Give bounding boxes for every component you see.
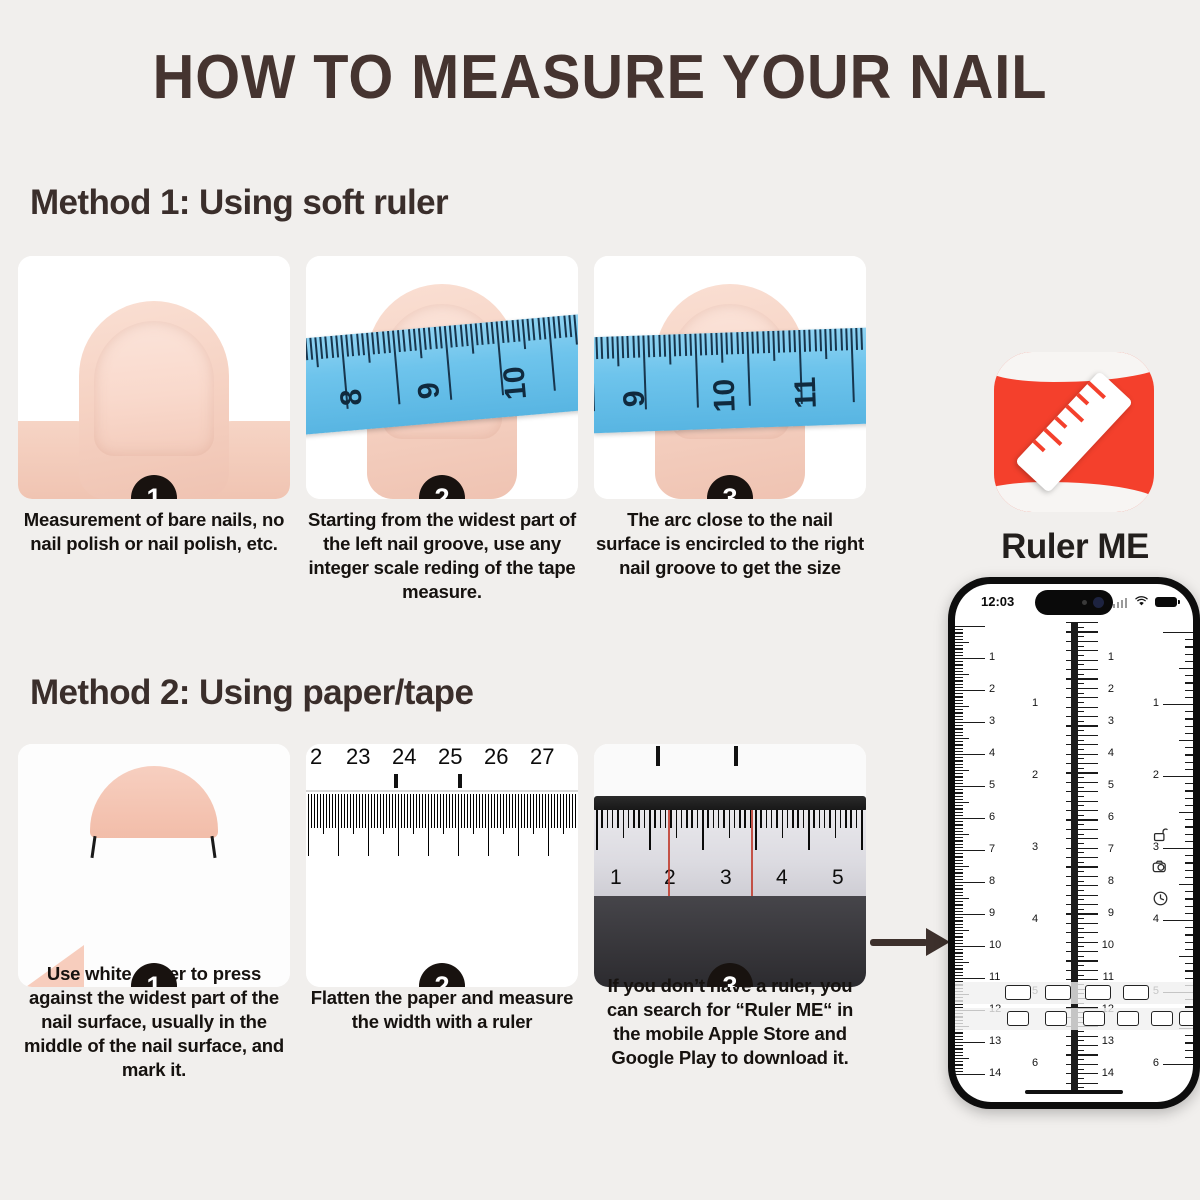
camera-icon[interactable] [1152,858,1169,875]
ruler-number: 24 [392,744,416,770]
ruler-scale-left: 1234567891011121314 [955,622,1017,1102]
pencil-mark-right [210,836,216,858]
ruler-number: 5 [832,866,844,890]
blue-tape-measure: 8 9 10 [306,313,578,436]
tape-number: 11 [789,376,824,409]
step-card-m1-2: 8 9 10 2 [306,256,578,499]
step-card-m2-3: 1 2 3 4 5 3 [594,744,866,987]
tape-number: 9 [618,390,653,408]
poster-root: HOW TO MEASURE YOUR NAIL Method 1: Using… [0,0,1200,1200]
pencil-mark-left [394,774,398,788]
ruler-number: 3 [720,866,732,890]
nail-size-chip[interactable] [1045,985,1071,1000]
ruler-me-app-screen[interactable]: 12:03 1234567891011121314 12345678910111… [955,584,1193,1102]
tape-number: 9 [412,381,447,401]
nail-size-chip[interactable] [1151,1011,1173,1026]
sensor-dot [1082,600,1087,605]
cellular-signal-icon [1113,598,1127,608]
step-card-m2-1: 1 [18,744,290,987]
ruler-number: 26 [484,744,508,770]
bare-fingernail-photo [18,256,290,499]
step-card-m2-2: 2 23 24 25 26 27 2 [306,744,578,987]
front-camera-lens [1093,597,1104,608]
nail-size-chip[interactable] [1007,1011,1029,1026]
pencil-mark-right [734,746,738,766]
step-caption: If you don’t have a ruler, you can searc… [594,974,866,1070]
app-name-label: Ruler ME [930,527,1200,567]
ruler-scale-center: 1234567891011121314123456 [1030,622,1118,1102]
nail-size-chip[interactable] [1045,1011,1067,1026]
ruler-face: 1 2 3 4 5 [594,810,866,896]
step-caption: Starting from the widest part of the lef… [306,508,578,604]
icon-wave-top [994,352,1154,382]
step-caption: Measurement of bare nails, no nail polis… [18,508,290,556]
lock-icon[interactable] [1152,826,1169,843]
status-bar: 12:03 [955,584,1193,622]
dynamic-island [1035,590,1113,615]
battery-icon [1155,597,1177,607]
ruler-number: 25 [438,744,462,770]
pressed-nail-shape [90,766,218,838]
nail-size-chip[interactable] [1123,985,1149,1000]
paper-above-ruler [594,744,866,796]
ruler-number: 4 [776,866,788,890]
ruler-glyph [1015,371,1133,493]
ruler-number: 23 [346,744,370,770]
home-indicator-bar [1025,1090,1123,1094]
pencil-mark-right [458,774,462,788]
nail-size-chip[interactable] [1083,1011,1105,1026]
history-clock-icon[interactable] [1152,890,1169,907]
nail-pressed-on-white-paper-photo [18,744,290,987]
arrow-head [926,928,950,956]
finger-wrapped-blue-tape-photo: 9 10 11 [594,256,866,499]
fingernail [94,321,214,456]
step-card-m1-1: 1 [18,256,290,499]
ruler-number: 27 [530,744,554,770]
nail-size-row-bottom[interactable] [955,1008,1193,1030]
step-caption: The arc close to the nail surface is enc… [594,508,866,580]
paper-edge [306,790,578,792]
step-card-m1-3: 9 10 11 3 [594,256,866,499]
ruler-app-icon[interactable] [994,352,1154,512]
tape-ticks [594,327,866,371]
finger-with-blue-tape-measure-photo: 8 9 10 [306,256,578,499]
nail-size-chip[interactable] [1179,1011,1193,1026]
nail-size-chip[interactable] [1005,985,1031,1000]
paper-ruler-photo: 2 23 24 25 26 27 [306,744,578,987]
wifi-icon [1134,595,1149,607]
tape-number: 10 [497,365,534,401]
ruler-number: 2 [310,744,322,770]
nail-size-chip[interactable] [1085,985,1111,1000]
arrow-shaft [870,939,928,946]
icon-wave-bottom [994,482,1154,512]
method-2-heading: Method 2: Using paper/tape [30,673,473,713]
tape-number: 10 [708,378,743,413]
status-time: 12:03 [981,594,1014,609]
method-1-heading: Method 1: Using soft ruler [30,183,448,223]
ruler-number: 1 [610,866,622,890]
page-title: HOW TO MEASURE YOUR NAIL [42,42,1158,113]
tape-number: 8 [334,388,369,408]
pencil-mark-left [656,746,660,766]
step-caption: Flatten the paper and measure the width … [306,986,578,1034]
metal-ruler-photo: 1 2 3 4 5 [594,744,866,987]
right-arrow-icon [870,928,950,956]
nail-size-row-top[interactable] [955,982,1193,1004]
pencil-mark-left [90,836,96,858]
phone-mockup: 12:03 1234567891011121314 12345678910111… [948,577,1200,1109]
nail-size-chip[interactable] [1117,1011,1139,1026]
finger-body [79,301,229,499]
blue-tape-measure: 9 10 11 [594,327,866,433]
